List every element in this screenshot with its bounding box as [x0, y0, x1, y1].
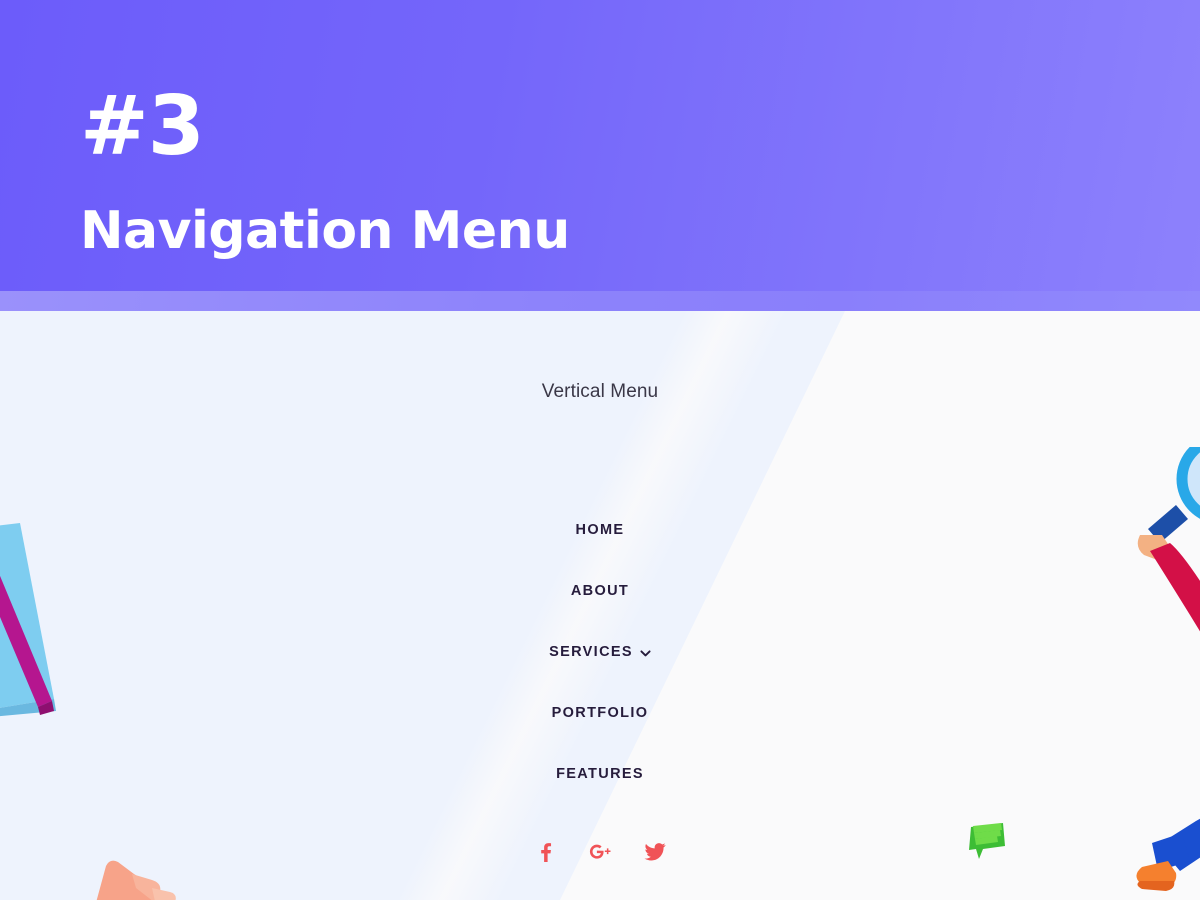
menu-link-portfolio[interactable]: PORTFOLIO [552, 700, 649, 727]
header-content: #3 Navigation Menu [80, 0, 1120, 291]
menu-item-home[interactable]: HOME [0, 516, 1200, 577]
vertical-menu: Vertical Menu HOME ABOUT SERVICES [0, 311, 1200, 900]
google-plus-icon[interactable] [589, 841, 611, 863]
menu-link-about[interactable]: ABOUT [571, 578, 629, 605]
menu-list: HOME ABOUT SERVICES [0, 516, 1200, 821]
page-header: #3 Navigation Menu [0, 0, 1200, 291]
menu-label-about: ABOUT [571, 578, 629, 605]
menu-label-services: SERVICES [549, 639, 633, 666]
menu-item-services[interactable]: SERVICES [0, 638, 1200, 699]
page-root: #3 Navigation Menu [0, 0, 1200, 900]
menu-label-home: HOME [576, 517, 625, 544]
social-links [0, 841, 1200, 863]
facebook-icon[interactable] [534, 841, 556, 863]
twitter-icon[interactable] [644, 841, 666, 863]
header-slide-number: #3 [80, 86, 204, 168]
menu-link-home[interactable]: HOME [576, 517, 625, 544]
page-title: Navigation Menu [80, 203, 570, 260]
menu-item-about[interactable]: ABOUT [0, 577, 1200, 638]
menu-label-portfolio: PORTFOLIO [552, 700, 649, 727]
menu-label-features: FEATURES [556, 761, 644, 788]
menu-item-portfolio[interactable]: PORTFOLIO [0, 699, 1200, 760]
chevron-down-icon[interactable] [640, 648, 651, 659]
menu-link-features[interactable]: FEATURES [556, 761, 644, 788]
menu-link-services[interactable]: SERVICES [549, 639, 651, 666]
menu-item-features[interactable]: FEATURES [0, 760, 1200, 821]
header-accent-strip [0, 291, 1200, 311]
menu-heading: Vertical Menu [0, 381, 1200, 403]
